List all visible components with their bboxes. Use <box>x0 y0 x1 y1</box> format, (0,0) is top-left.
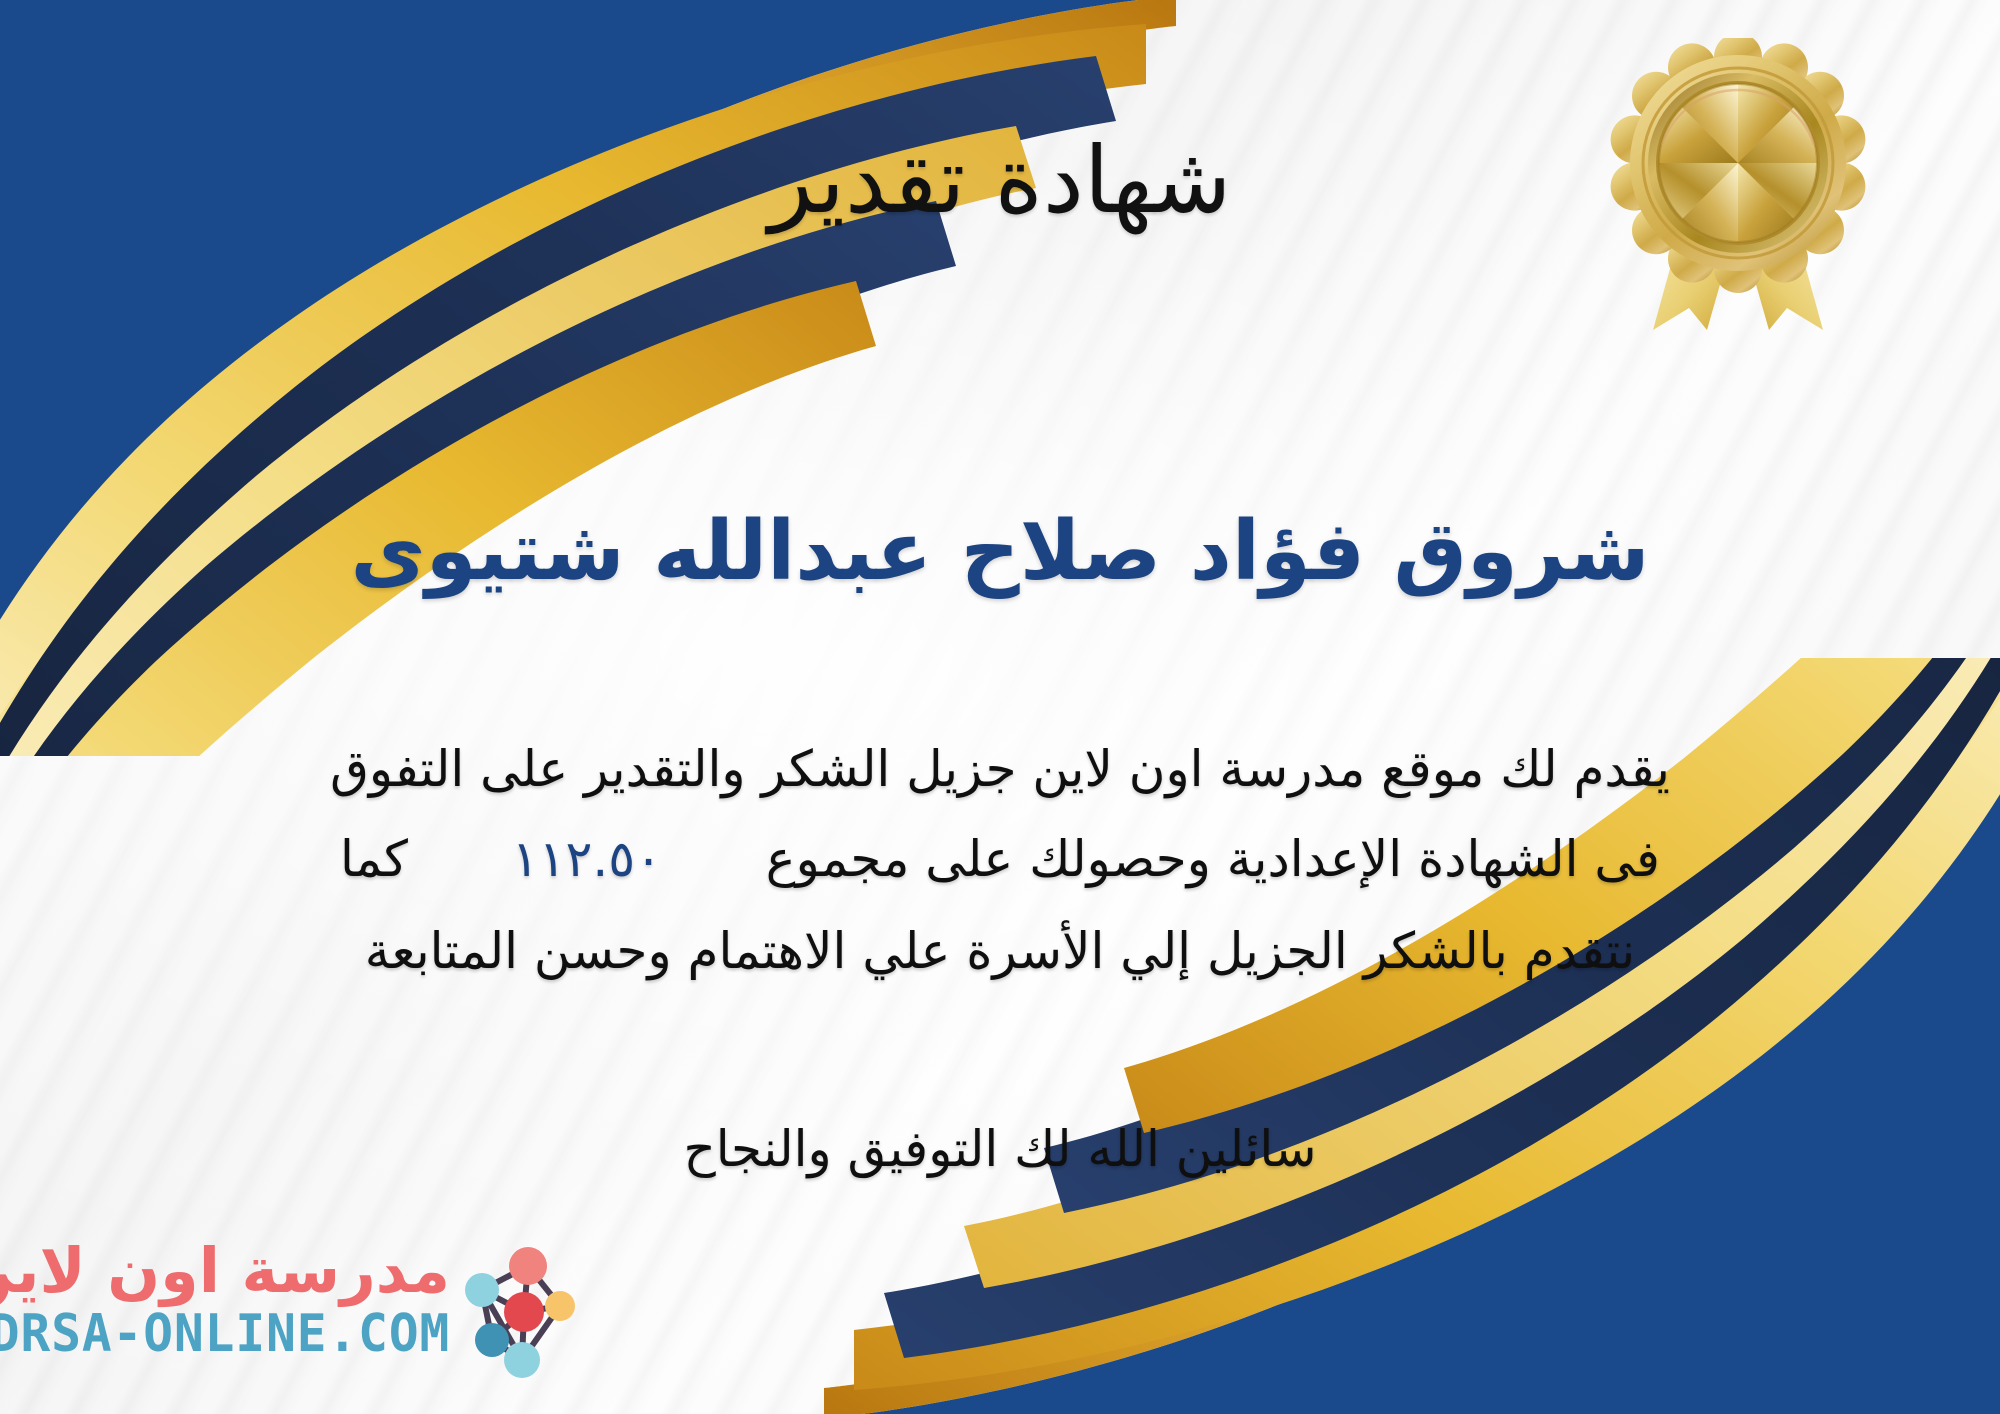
total-score-value: ١١٢.٥٠ <box>486 830 688 888</box>
body-line-2-suffix: كما <box>340 830 408 888</box>
certificate-title: شهادة تقدير <box>0 130 2000 231</box>
body-line-2: فى الشهادة الإعدادية وحصولك على مجموع ١١… <box>60 828 1940 891</box>
network-nodes-icon <box>456 1244 586 1380</box>
body-line-1: يقدم لك موقع مدرسة اون لاين جزيل الشكر و… <box>60 738 1940 801</box>
body-line-2-prefix: فى الشهادة الإعدادية وحصولك على مجموع <box>766 830 1660 888</box>
brand-logo: مدرسة اون لاين MADRSA-ONLINE.COM <box>26 1240 586 1390</box>
body-line-3: نتقدم بالشكر الجزيل إلي الأسرة علي الاهت… <box>60 920 1940 983</box>
certificate-content: شهادة تقدير شروق فؤاد صلاح عبدالله شتيوى… <box>0 0 2000 1414</box>
brand-website-url: MADRSA-ONLINE.COM <box>0 1308 450 1360</box>
certificate-canvas: شهادة تقدير شروق فؤاد صلاح عبدالله شتيوى… <box>0 0 2000 1414</box>
student-name: شروق فؤاد صلاح عبدالله شتيوى <box>0 505 2000 599</box>
brand-name-arabic: مدرسة اون لاين <box>0 1240 450 1302</box>
closing-line: سائلين الله لك التوفيق والنجاح <box>0 1118 2000 1181</box>
brand-text-block: مدرسة اون لاين MADRSA-ONLINE.COM <box>0 1240 450 1360</box>
